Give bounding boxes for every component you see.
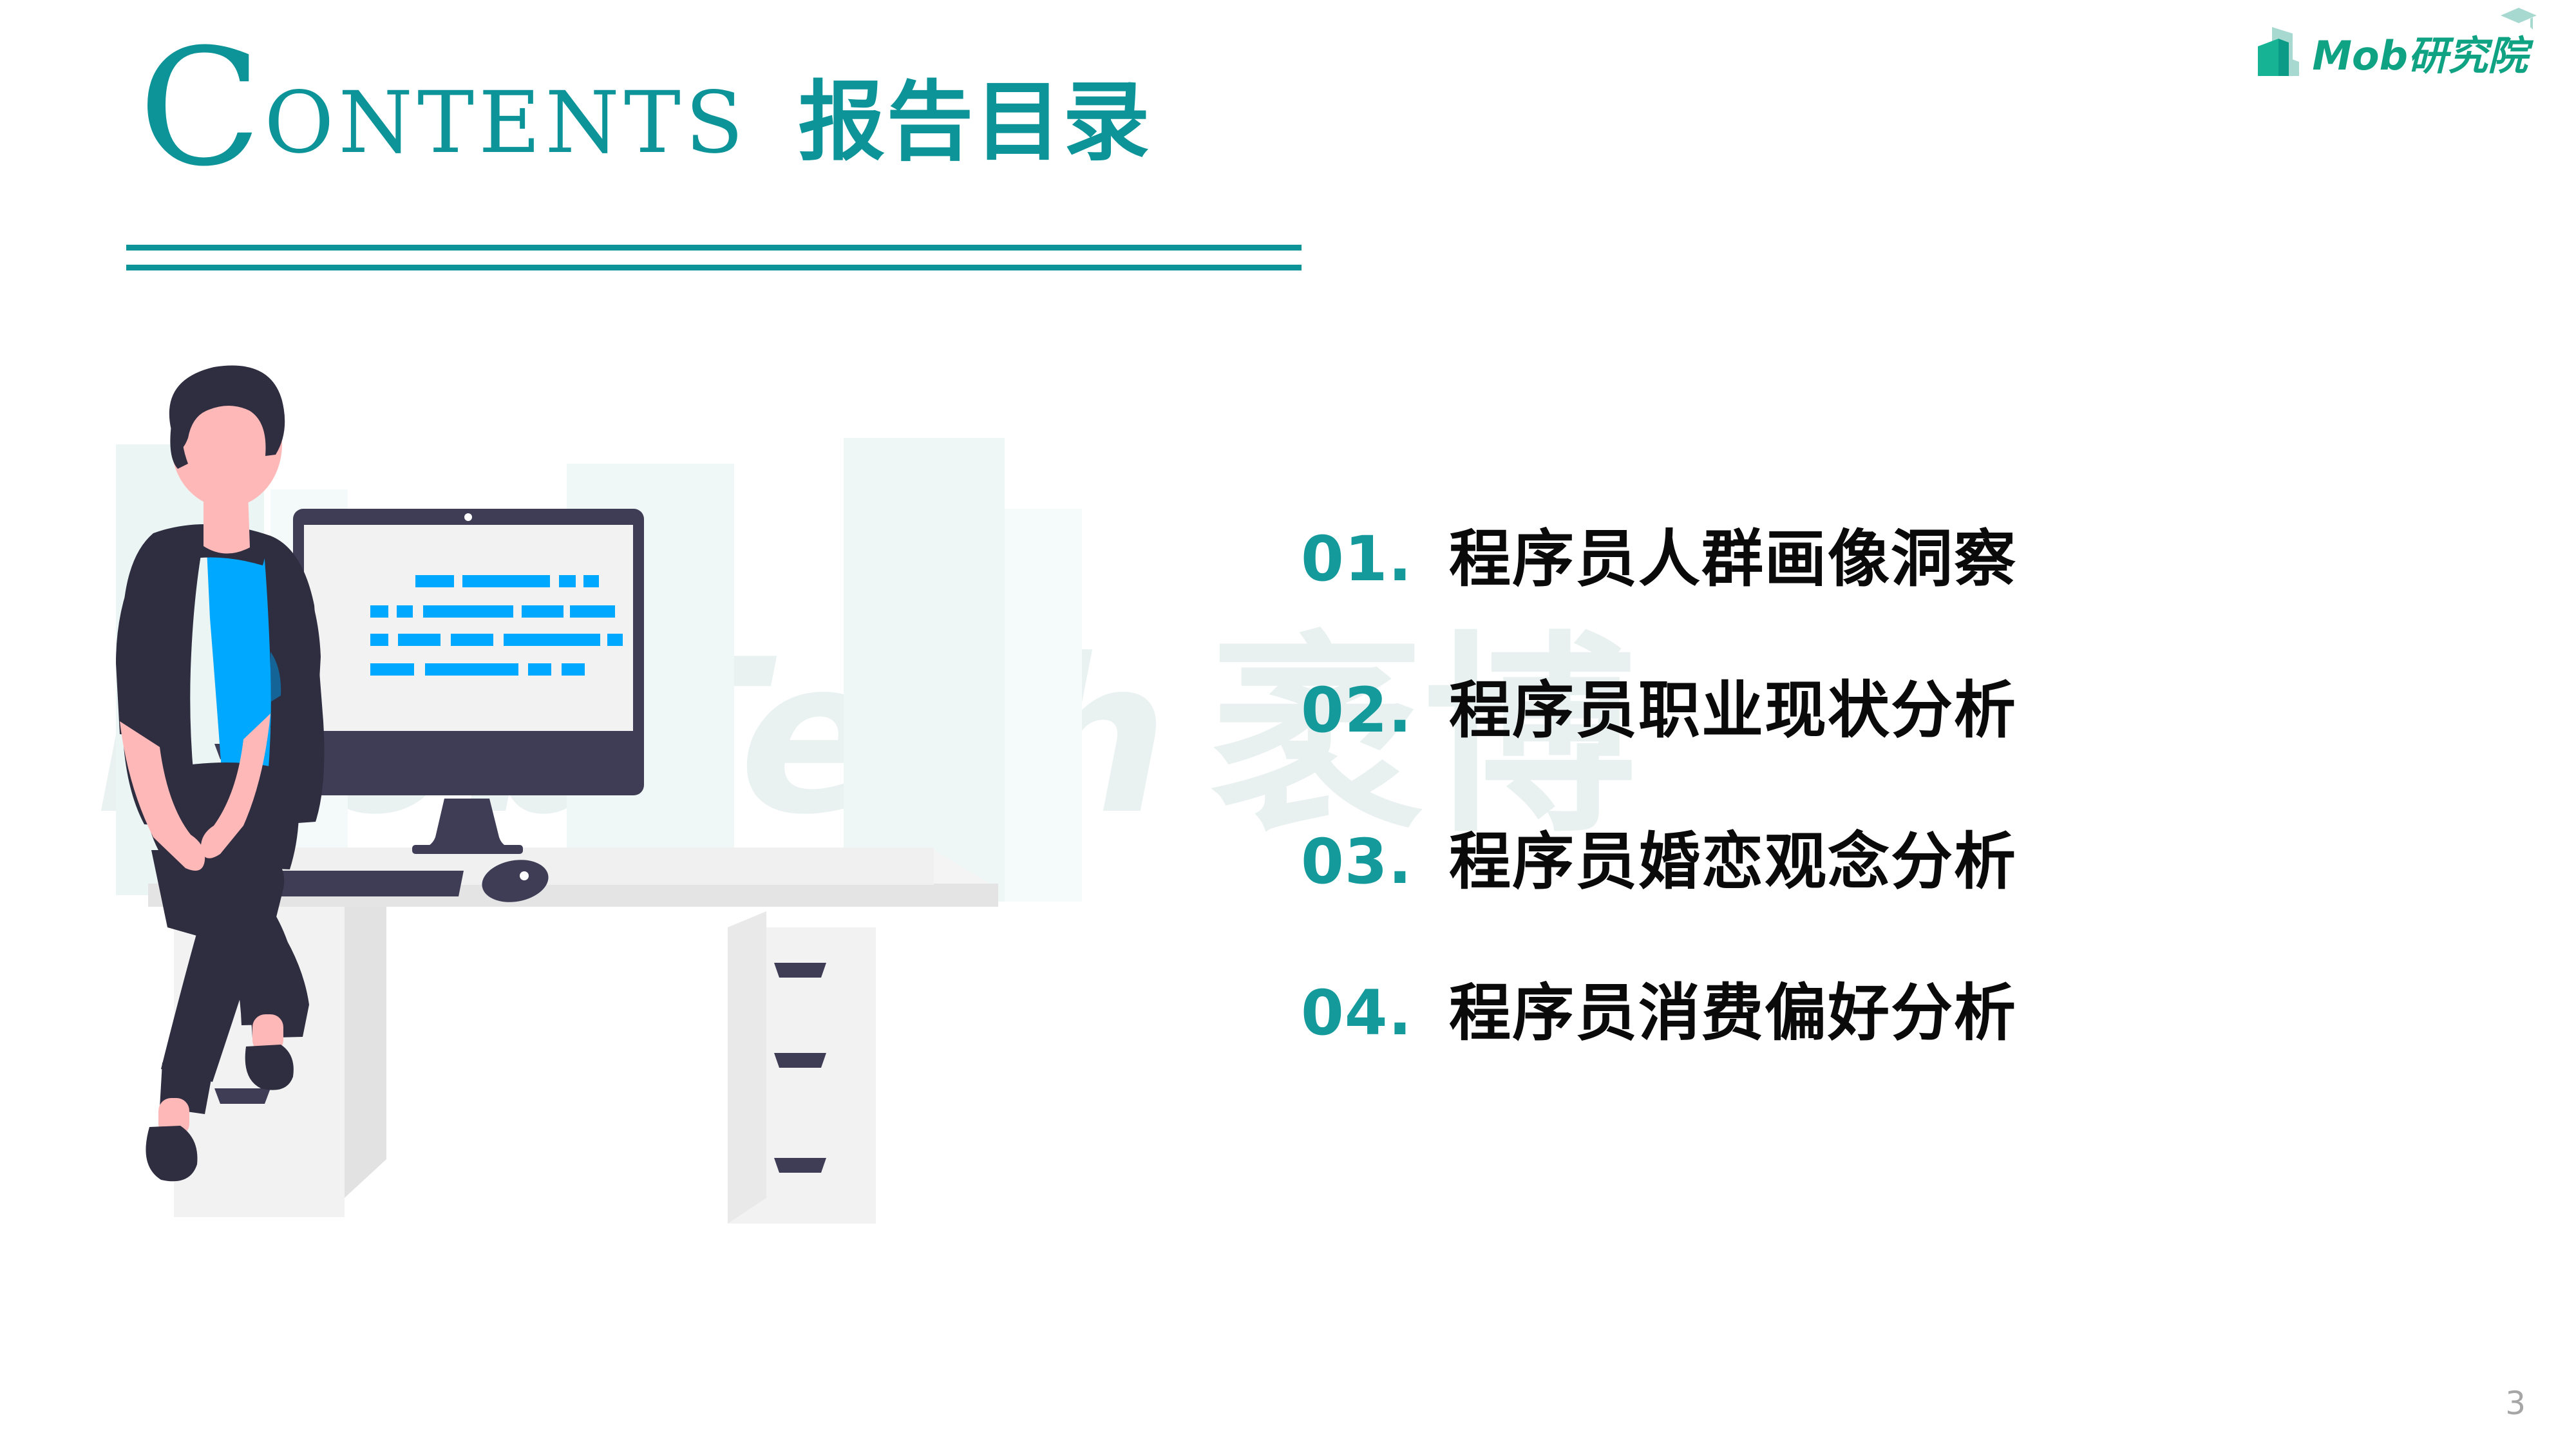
toc-item-2-label: 程序员职业现状分析 <box>1449 660 2017 750</box>
toc-item-1-number: 01. <box>1301 523 1449 595</box>
page-title: C ONTENTS 报告目录 <box>138 33 1151 166</box>
toc-item-1[interactable]: 01. 程序员人群画像洞察 <box>1301 509 2396 598</box>
divider-line-bottom <box>126 265 1302 270</box>
toc-item-3-label: 程序员婚恋观念分析 <box>1449 811 2017 901</box>
table-of-contents: 01. 程序员人群画像洞察 02. 程序员职业现状分析 03. 程序员婚恋观念分… <box>1301 509 2396 1052</box>
divider-line-top <box>126 245 1302 251</box>
toc-item-1-label: 程序员人群画像洞察 <box>1449 509 2017 598</box>
page-title-cn: 报告目录 <box>798 79 1151 166</box>
header-divider <box>126 245 1302 270</box>
graduation-cap-icon <box>2499 8 2537 30</box>
toc-item-2[interactable]: 02. 程序员职业现状分析 <box>1301 660 2396 750</box>
toc-item-2-number: 02. <box>1301 674 1449 746</box>
toc-item-3[interactable]: 03. 程序员婚恋观念分析 <box>1301 811 2396 901</box>
programmer-at-desk-illustration <box>77 361 1121 1224</box>
brand-logo-text: Mob研究院 <box>2312 36 2528 76</box>
brand-logo: Mob研究院 <box>2253 24 2528 76</box>
slide-header: C ONTENTS 报告目录 <box>0 0 2576 270</box>
contents-word: ONTENTS <box>264 80 748 166</box>
bar-chart-logo-icon <box>2253 24 2303 76</box>
page-number: 3 <box>2505 1385 2526 1422</box>
toc-item-4[interactable]: 04. 程序员消费偏好分析 <box>1301 963 2396 1052</box>
contents-initial-letter: C <box>138 45 261 171</box>
toc-item-4-label: 程序员消费偏好分析 <box>1449 963 2017 1052</box>
toc-item-3-number: 03. <box>1301 826 1449 898</box>
toc-item-4-number: 04. <box>1301 977 1449 1049</box>
